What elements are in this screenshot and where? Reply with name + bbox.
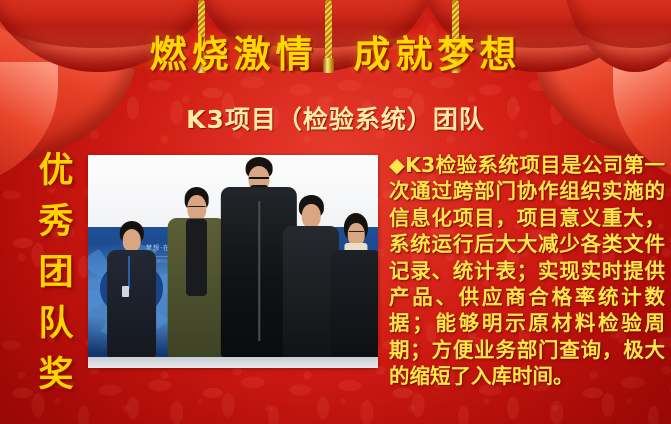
team-member-1 bbox=[103, 221, 161, 357]
glasses-icon bbox=[249, 177, 269, 182]
team-photo: 梦想·在这里启航 公司愿景与文化宣传展板文字 公司愿景与文化宣传展板文字 公司愿… bbox=[88, 155, 378, 368]
main-title: 燃烧激情 成就梦想 bbox=[0, 34, 671, 76]
team-member-5 bbox=[329, 213, 378, 358]
award-char: 队 bbox=[36, 299, 76, 350]
glasses-icon bbox=[188, 206, 205, 210]
glasses-icon bbox=[349, 231, 363, 235]
award-char: 优 bbox=[36, 146, 76, 197]
photo-floor bbox=[88, 357, 378, 368]
sub-title: K3项目（检验系统）团队 bbox=[0, 105, 671, 135]
id-badge-icon bbox=[122, 286, 128, 297]
award-char: 团 bbox=[36, 248, 76, 299]
award-char: 秀 bbox=[36, 197, 76, 248]
project-description: ◆K3检验系统项目是公司第一次通过跨部门协作组织实施的信息化项目，项目意义重大，… bbox=[389, 152, 665, 390]
award-vertical-label: 优 秀 团 队 奖 bbox=[36, 146, 76, 401]
award-poster: 燃烧激情 成就梦想 K3项目（检验系统）团队 优 秀 团 队 奖 梦想·在这里启… bbox=[0, 0, 671, 424]
award-char: 奖 bbox=[36, 350, 76, 401]
